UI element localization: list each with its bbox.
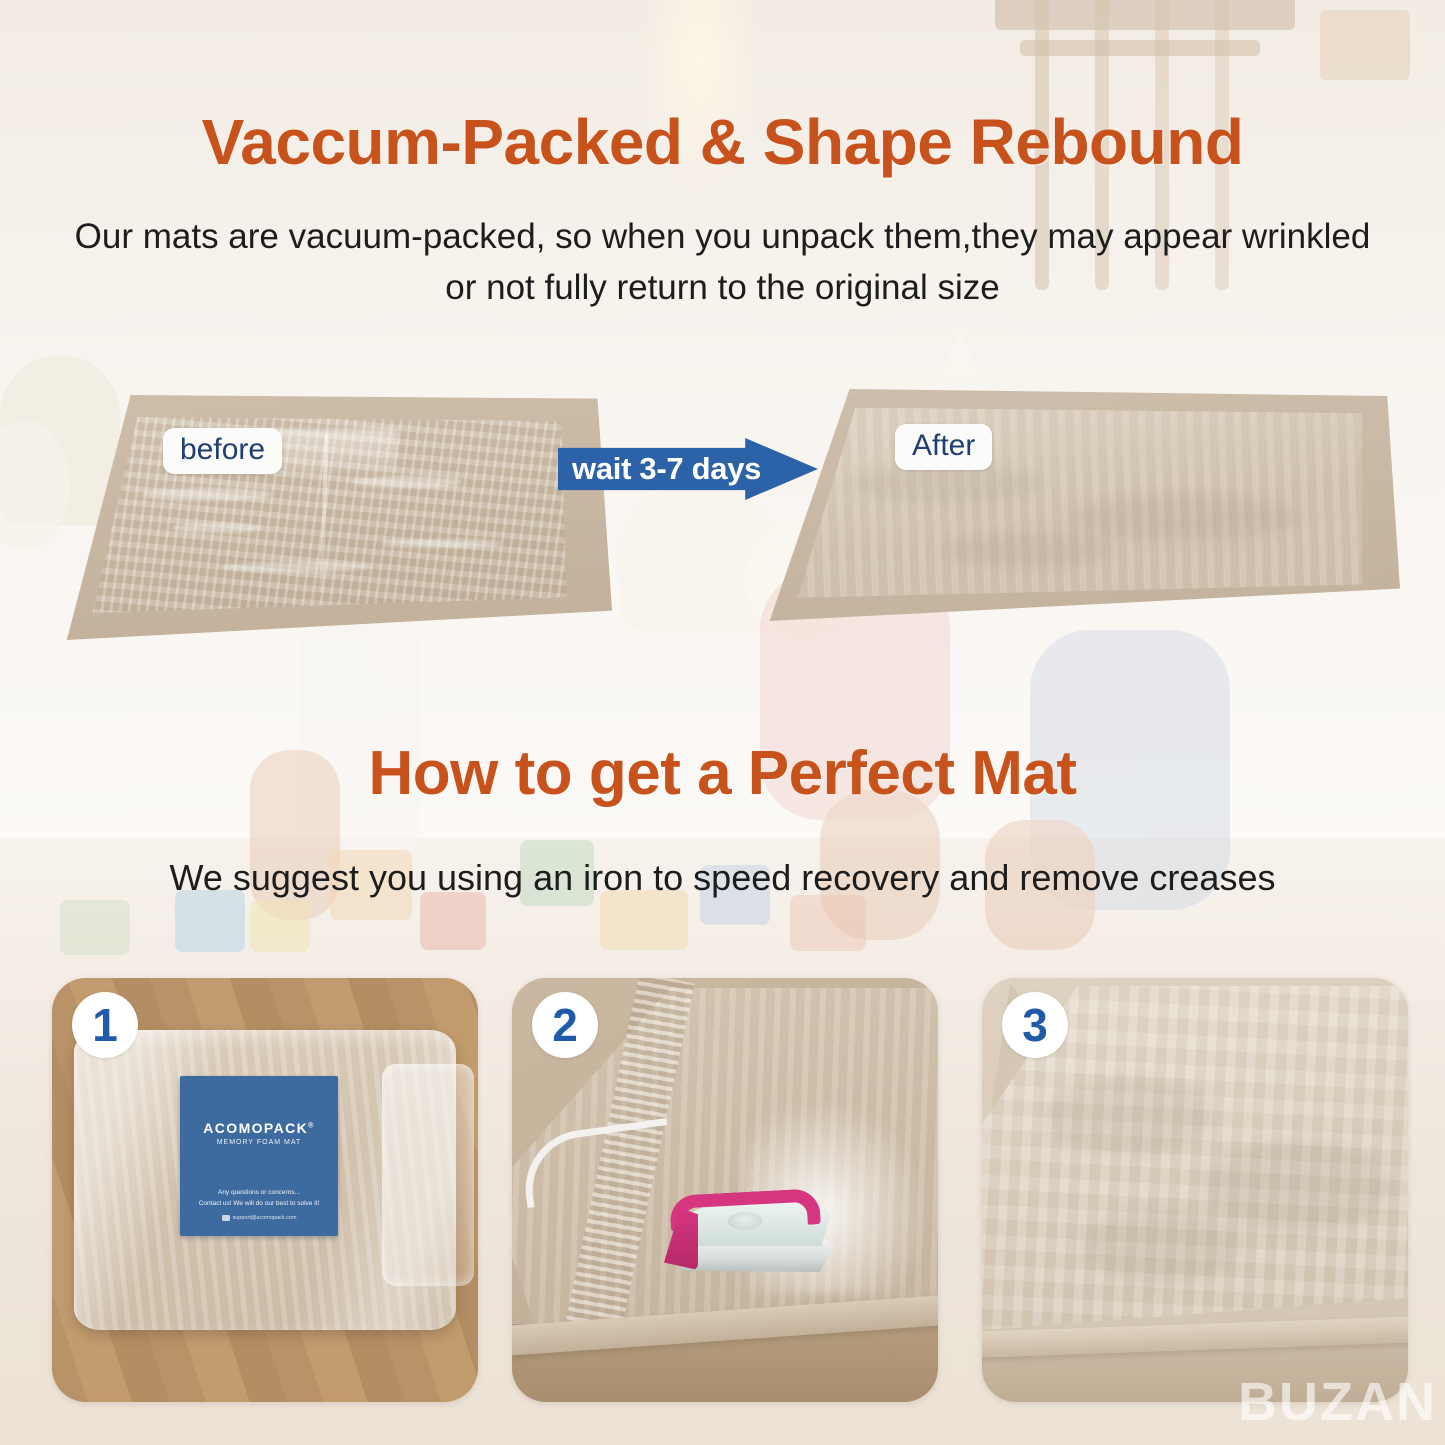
registered-mark: ® [308,1122,315,1129]
label-email-text: support@acomopack.com [233,1215,297,1221]
section-1-subtext: Our mats are vacuum-packed, so when you … [0,212,1445,314]
mat-after-texture [850,465,1046,503]
mat-after-image [760,389,1400,621]
mat-before-surface [73,417,572,613]
plastic-wrap-tail [382,1064,474,1286]
step-panel-1: ACOMOPACK® MEMORY FOAM MAT Any questions… [52,978,478,1402]
product-subtitle: MEMORY FOAM MAT [217,1139,302,1146]
step-panels: ACOMOPACK® MEMORY FOAM MAT Any questions… [0,978,1445,1408]
label-contact-line: Contact us! We will do our best to solve… [180,1200,338,1207]
brand-text: ACOMOPACK [203,1120,308,1136]
mat-after-surface [792,408,1368,598]
infographic-page: Vaccum-Packed & Shape Rebound Our mats a… [0,0,1445,1445]
section-2-heading: How to get a Perfect Mat [0,738,1445,809]
section-2-subtext: We suggest you using an iron to speed re… [0,852,1445,904]
step-badge-3: 3 [1002,992,1068,1058]
mat-before-crease [382,539,502,549]
mat-before-crease [352,476,462,488]
label-question-line: Any questions or concerns... [180,1189,338,1196]
section-1-heading: Vaccum-Packed & Shape Rebound [0,105,1445,179]
step-panel-2: 2 [512,978,938,1402]
steam-iron [662,1186,840,1272]
mat-surface-texture [1045,1078,1213,1155]
product-brand-name: ACOMOPACK® [203,1120,314,1136]
mat-before-crease [142,488,272,502]
after-label: After [895,424,992,470]
mat-before-crease [172,523,262,533]
step-badge-2: 2 [532,992,598,1058]
mat-before-patch [272,429,397,472]
mat-after-texture [942,533,1115,567]
mat-before-crease [222,562,372,572]
product-label-card: ACOMOPACK® MEMORY FOAM MAT Any questions… [180,1076,338,1236]
before-after-comparison [0,375,1445,665]
wait-arrow-label: wait 3-7 days [558,451,761,487]
before-label: before [163,428,282,474]
envelope-icon [222,1215,230,1221]
step-panel-3: 3 [982,978,1408,1402]
iron-heel-rest [664,1208,698,1270]
mat-before-image [32,395,612,640]
mat-surface-texture [1082,1211,1240,1281]
step-badge-1: 1 [72,992,138,1058]
mat-after-texture [1068,495,1298,541]
watermark: BUZAN [1238,1371,1437,1433]
label-email-line: support@acomopack.com [180,1215,338,1221]
mat-surface-texture [1203,1141,1389,1233]
